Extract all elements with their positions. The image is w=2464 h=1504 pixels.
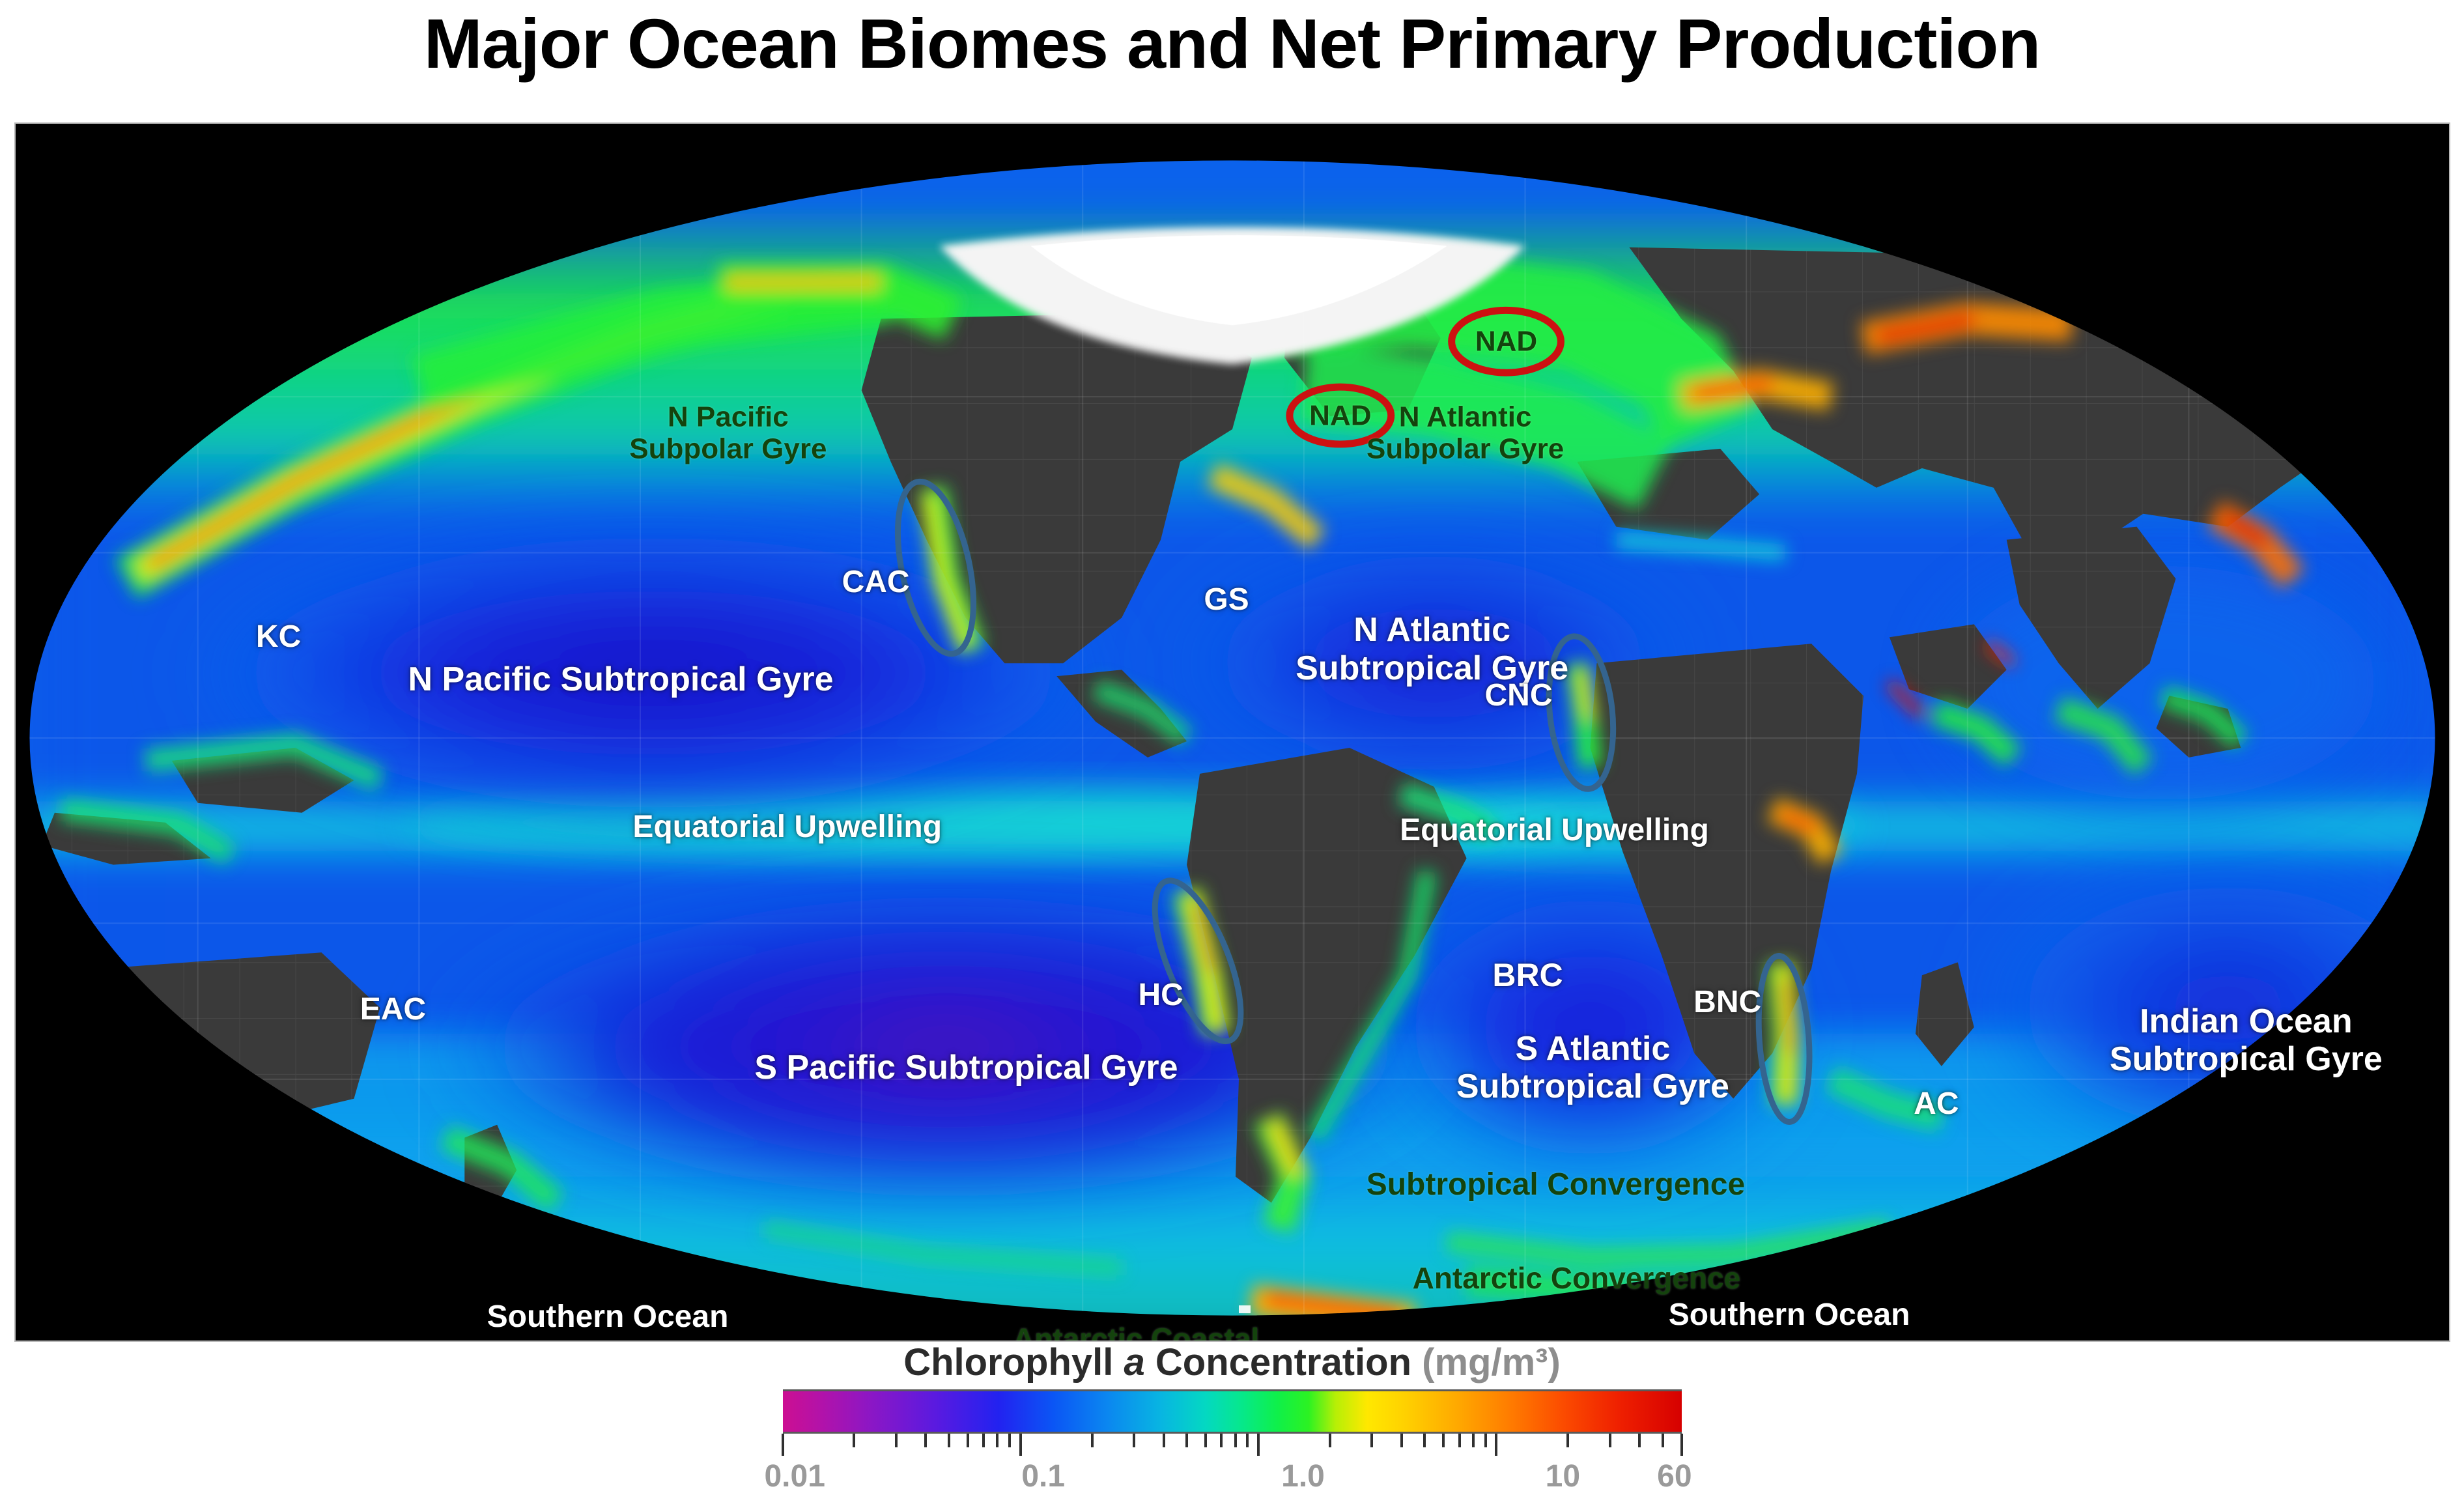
colorbar-tick-label: 10 [1546,1458,1580,1494]
colorbar-minor-tick [982,1434,985,1447]
colorbar-legend: Chlorophyll a Concentration (mg/m³) 0.01… [0,1343,2464,1504]
colorbar-minor-tick [1609,1434,1611,1447]
chlorophyll-map-panel: N Pacific Subpolar GyreN Atlantic Subpol… [14,122,2450,1342]
page-title: Major Ocean Biomes and Net Primary Produ… [0,3,2464,84]
colorbar-minor-tick [1638,1434,1641,1447]
colorbar-minor-tick [1566,1434,1569,1447]
colorbar-minor-tick [1220,1434,1223,1447]
colorbar-minor-tick [895,1434,898,1447]
colorbar-minor-tick [1163,1434,1165,1447]
colorbar-minor-tick [1458,1434,1461,1447]
colorbar-minor-tick [1234,1434,1237,1447]
colorbar-minor-tick [924,1434,927,1447]
colorbar-minor-tick [1472,1434,1475,1447]
legend-title: Chlorophyll a Concentration (mg/m³) [0,1343,2464,1383]
colorbar-minor-tick [1185,1434,1188,1447]
colorbar-minor-tick [1423,1434,1426,1447]
colorbar-minor-tick [853,1434,855,1447]
legend-title-main: Chlorophyll [903,1341,1124,1383]
colorbar-wrapper: 0.010.11.01060 [783,1389,1682,1504]
colorbar-major-tick [1019,1434,1022,1456]
colorbar-major-tick [782,1434,784,1456]
colorbar-major-tick [1495,1434,1497,1456]
colorbar-minor-tick [1008,1434,1011,1447]
colorbar-tick-label: 0.1 [1021,1458,1065,1494]
colorbar-minor-tick [1133,1434,1135,1447]
legend-title-italic: a [1124,1341,1145,1383]
colorbar-tick-label: 0.01 [764,1458,825,1494]
legend-title-rest: Concentration [1145,1341,1422,1383]
colorbar-minor-tick [1329,1434,1331,1447]
colorbar-major-tick [1680,1434,1683,1456]
colorbar-tick-label: 60 [1657,1458,1692,1494]
mollweide-chlorophyll-map [16,124,2449,1341]
colorbar-minor-tick [1204,1434,1207,1447]
colorbar-minor-tick [1484,1434,1487,1447]
colorbar-minor-tick [948,1434,950,1447]
colorbar-minor-tick [967,1434,969,1447]
ocean-biomes-figure: Major Ocean Biomes and Net Primary Produ… [0,0,2464,1502]
colorbar-gradient [783,1389,1682,1434]
colorbar-minor-tick [1091,1434,1094,1447]
colorbar-ticks [783,1434,1682,1458]
legend-title-unit: (mg/m³) [1422,1341,1561,1383]
colorbar-tick-labels: 0.010.11.01060 [783,1458,1682,1504]
colorbar-minor-tick [1442,1434,1445,1447]
colorbar-minor-tick [1246,1434,1249,1447]
colorbar-minor-tick [996,1434,998,1447]
colorbar-minor-tick [1370,1434,1373,1447]
colorbar-tick-label: 1.0 [1281,1458,1325,1494]
colorbar-minor-tick [1400,1434,1403,1447]
colorbar-major-tick [1257,1434,1260,1456]
colorbar-minor-tick [1662,1434,1664,1447]
